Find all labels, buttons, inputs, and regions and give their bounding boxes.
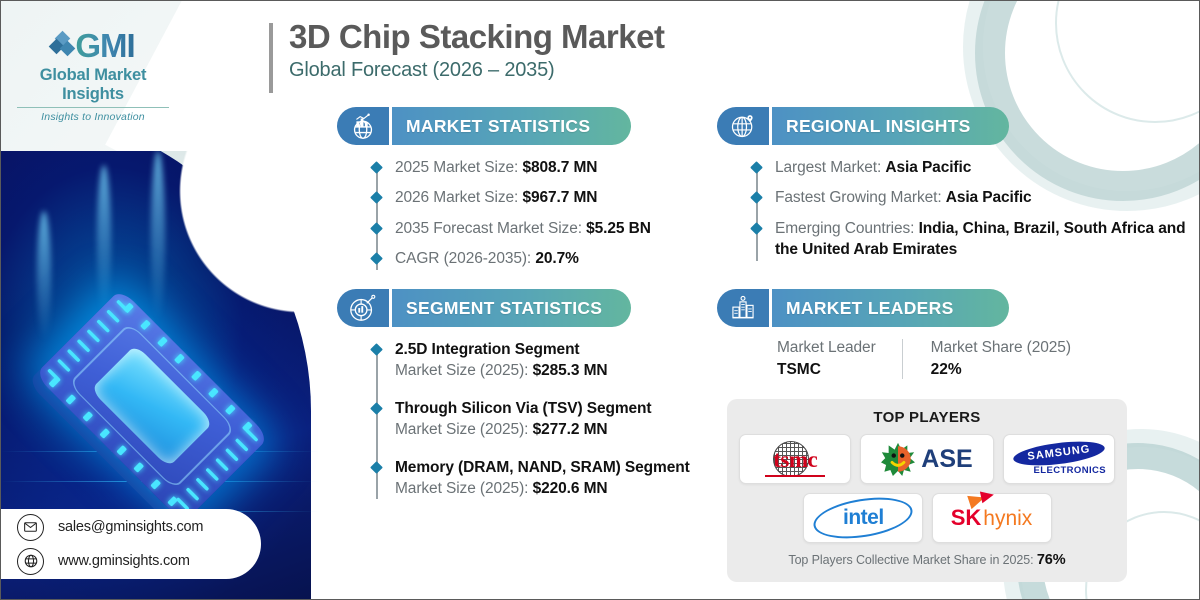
top-players-panel: TOP PLAYERS tsmc (727, 399, 1127, 582)
contact-email-row[interactable]: sales@gminsights.com (17, 514, 261, 541)
bullet-diamond-icon (370, 192, 383, 205)
intel-swoosh: intel (810, 491, 915, 544)
stat-value: $5.25 BN (586, 220, 651, 237)
region-label: Emerging Countries: (775, 220, 919, 237)
infographic-canvas: GMI Global Market Insights Insights to I… (0, 0, 1200, 600)
player-logo-intel[interactable]: intel (803, 493, 923, 543)
market-share-value: 22% (931, 361, 1071, 379)
footnote-value: 76% (1037, 552, 1066, 568)
section-label-market-statistics: MARKET STATISTICS (389, 107, 631, 145)
market-share-cell: Market Share (2025) 22% (902, 339, 1097, 379)
bullet-diamond-icon (370, 343, 383, 356)
bullet-diamond-icon (370, 222, 383, 235)
contact-website-row[interactable]: www.gminsights.com (17, 548, 261, 575)
tsmc-wordmark: tsmc (773, 448, 817, 471)
stat-label: CAGR (2026-2035): (395, 250, 535, 267)
bullet-diamond-icon (370, 161, 383, 174)
market-leaders-detail: Market Leader TSMC Market Share (2025) 2… (777, 339, 1097, 379)
tsmc-underline (765, 475, 825, 477)
section-header-regional-insights: REGIONAL INSIGHTS (717, 107, 1009, 145)
segment-name: Memory (DRAM, NAND, SRAM) Segment (395, 457, 745, 478)
list-item: CAGR (2026-2035): 20.7% (395, 248, 725, 269)
list-item: 2.5D Integration Segment Market Size (20… (395, 339, 745, 382)
globe-icon (17, 548, 44, 575)
bullet-diamond-icon (750, 222, 763, 235)
player-logo-ase[interactable]: ASE (860, 434, 993, 484)
stat-value: $967.7 MN (522, 189, 597, 206)
market-leader-value: TSMC (777, 361, 876, 379)
stat-label: 2035 Forecast Market Size: (395, 220, 586, 237)
region-value: Asia Pacific (885, 159, 971, 176)
top-players-row-2: intel SK hynix (739, 493, 1115, 543)
segment-value: $220.6 MN (533, 480, 608, 497)
list-item: 2035 Forecast Market Size: $5.25 BN (395, 218, 725, 239)
list-spine (376, 348, 378, 499)
intel-wordmark: intel (842, 506, 883, 530)
list-item: Through Silicon Via (TSV) Segment Market… (395, 398, 745, 441)
section-header-segment-statistics: SEGMENT STATISTICS (337, 289, 631, 327)
stat-value: 20.7% (535, 250, 578, 267)
section-header-market-statistics: MARKET STATISTICS (337, 107, 631, 145)
segment-statistics-list: 2.5D Integration Segment Market Size (20… (369, 339, 745, 508)
ase-wordmark: ASE (921, 445, 972, 474)
contact-email: sales@gminsights.com (58, 519, 203, 535)
envelope-icon (17, 514, 44, 541)
market-statistics-list: 2025 Market Size: $808.7 MN 2026 Market … (369, 157, 725, 279)
segment-value: $285.3 MN (533, 362, 608, 379)
market-share-caption: Market Share (2025) (931, 339, 1071, 357)
market-leader-caption: Market Leader (777, 339, 876, 357)
top-players-row-1: tsmc ASE (739, 434, 1115, 484)
ase-starburst-icon (881, 442, 915, 476)
section-label-regional-insights: REGIONAL INSIGHTS (769, 107, 1009, 145)
bullet-diamond-icon (750, 192, 763, 205)
logo-letters: GMI (75, 29, 134, 62)
logo-divider (17, 107, 169, 108)
region-value: Asia Pacific (946, 189, 1032, 206)
stat-value: $808.7 MN (522, 159, 597, 176)
samsung-wordmark: SAMSUNG (1027, 444, 1091, 463)
sk-wordmark: SK (951, 507, 982, 529)
section-label-market-leaders: MARKET LEADERS (769, 289, 1009, 327)
bullet-diamond-icon (750, 161, 763, 174)
list-item: Largest Market: Asia Pacific (775, 157, 1200, 178)
donut-chart-icon (337, 289, 389, 327)
globe-pin-icon (717, 107, 769, 145)
player-logo-tsmc[interactable]: tsmc (739, 434, 851, 484)
segment-name: 2.5D Integration Segment (395, 339, 745, 360)
top-players-footnote: Top Players Collective Market Share in 2… (739, 552, 1115, 568)
logo-company-name: Global Market Insights (13, 66, 173, 104)
section-label-segment-statistics: SEGMENT STATISTICS (389, 289, 631, 327)
page-title: 3D Chip Stacking Market (289, 19, 664, 55)
title-accent-bar (269, 23, 273, 93)
gmi-diamonds-icon (51, 31, 73, 61)
samsung-subtext: ELECTRONICS (1034, 466, 1107, 476)
stat-label: 2025 Market Size: (395, 159, 522, 176)
page-title-block: 3D Chip Stacking Market Global Forecast … (269, 19, 664, 82)
podium-icon (717, 289, 769, 327)
market-leader-cell: Market Leader TSMC (777, 339, 902, 379)
logo-tagline: Insights to Innovation (13, 111, 173, 123)
contact-card: sales@gminsights.com www.gminsights.com (0, 509, 261, 579)
stat-label: 2026 Market Size: (395, 189, 522, 206)
list-item: 2025 Market Size: $808.7 MN (395, 157, 725, 178)
decorative-ring-top-right-hairline (1055, 0, 1200, 123)
player-logo-samsung[interactable]: SAMSUNG ELECTRONICS (1003, 434, 1115, 484)
segment-caption: Market Size (2025): (395, 421, 533, 438)
top-players-title: TOP PLAYERS (739, 409, 1115, 426)
list-item: Emerging Countries: India, China, Brazil… (775, 218, 1200, 261)
hynix-wordmark: hynix (983, 508, 1032, 529)
section-header-market-leaders: MARKET LEADERS (717, 289, 1009, 327)
footnote-label: Top Players Collective Market Share in 2… (788, 553, 1036, 567)
page-subtitle: Global Forecast (2026 – 2035) (289, 59, 664, 82)
gmi-logo: GMI Global Market Insights Insights to I… (13, 29, 173, 123)
bullet-diamond-icon (370, 461, 383, 474)
list-spine (756, 166, 758, 261)
globe-chart-icon (337, 107, 389, 145)
region-label: Largest Market: (775, 159, 885, 176)
segment-caption: Market Size (2025): (395, 362, 533, 379)
contact-website: www.gminsights.com (58, 553, 190, 569)
list-item: Memory (DRAM, NAND, SRAM) Segment Market… (395, 457, 745, 500)
segment-caption: Market Size (2025): (395, 480, 533, 497)
player-logo-sk-hynix[interactable]: SK hynix (932, 493, 1052, 543)
segment-name: Through Silicon Via (TSV) Segment (395, 398, 745, 419)
segment-value: $277.2 MN (533, 421, 608, 438)
bullet-diamond-icon (370, 252, 383, 265)
region-label: Fastest Growing Market: (775, 189, 946, 206)
list-item: 2026 Market Size: $967.7 MN (395, 187, 725, 208)
list-item: Fastest Growing Market: Asia Pacific (775, 187, 1200, 208)
bullet-diamond-icon (370, 402, 383, 415)
regional-insights-list: Largest Market: Asia Pacific Fastest Gro… (749, 157, 1200, 270)
sk-hynix-flag-icon (980, 489, 995, 503)
